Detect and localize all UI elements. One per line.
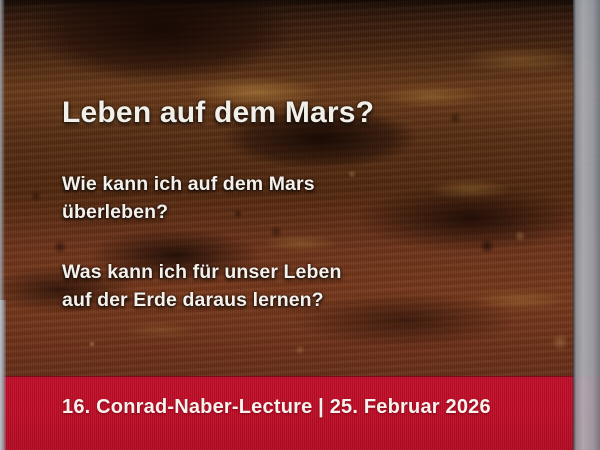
question-1-line-2: überleben? (62, 198, 315, 226)
screen-edge-left-lower (0, 300, 6, 450)
event-banner-text: 16. Conrad-Naber-Lecture | 25. Februar 2… (62, 396, 491, 419)
question-2-line-1: Was kann ich für unser Leben (62, 258, 341, 286)
question-1-line-1: Wie kann ich auf dem Mars (62, 170, 315, 198)
page-title: Leben auf dem Mars? (62, 96, 374, 130)
question-block-earth-lesson: Was kann ich für unser Leben auf der Erd… (62, 258, 341, 314)
question-2-line-2: auf der Erde daraus lernen? (62, 286, 341, 314)
question-block-survival: Wie kann ich auf dem Mars überleben? (62, 170, 315, 226)
screen-edge-right (573, 0, 600, 450)
event-banner: 16. Conrad-Naber-Lecture | 25. Februar 2… (0, 376, 600, 450)
mars-lecture-poster: Leben auf dem Mars? Wie kann ich auf dem… (0, 0, 600, 450)
